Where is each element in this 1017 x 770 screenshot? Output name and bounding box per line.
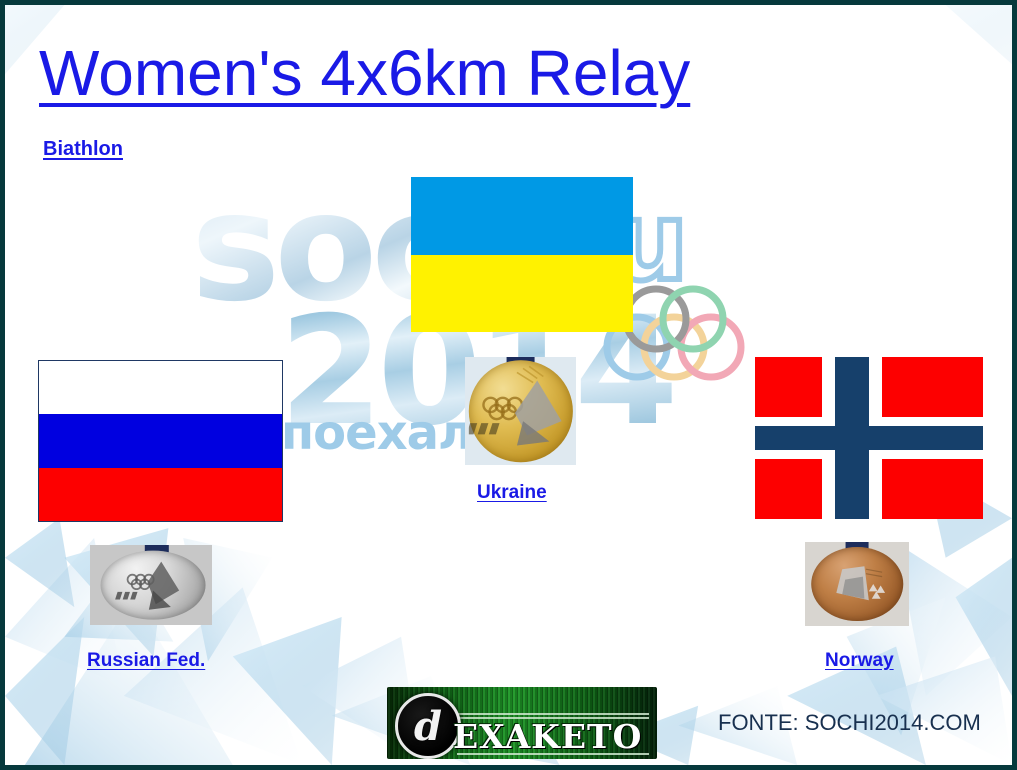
source-credit: FONTE: SOCHI2014.COM	[718, 710, 981, 736]
gold-medal-photo	[465, 357, 576, 465]
logo-rule	[457, 713, 649, 715]
logo-d-mark: d	[395, 693, 461, 759]
medal-disc	[468, 360, 572, 462]
presentation-slide: sochi .ru 2014 поехали! Women's 4x6km Re…	[0, 0, 1017, 770]
russia-flag	[38, 360, 283, 522]
logo-d-letter: d	[398, 696, 458, 756]
country-label-ukraine: Ukraine	[477, 482, 547, 504]
gold-medal	[465, 357, 576, 465]
flag-band-blue	[39, 414, 282, 467]
sport-subtitle: Biathlon	[43, 138, 123, 161]
flag-band-red	[39, 468, 282, 521]
dexaketo-logo: d EXAKETO	[387, 687, 657, 759]
bronze-medal-photo	[805, 542, 909, 626]
flag-band-yellow	[411, 255, 633, 333]
silver-medal-photo	[90, 545, 212, 625]
norway-flag	[755, 357, 983, 519]
bronze-medal	[805, 542, 909, 626]
medal-disc	[811, 547, 903, 621]
silver-medal	[90, 545, 212, 625]
country-label-russian-fed: Russian Fed.	[87, 650, 205, 672]
page-title: Women's 4x6km Relay	[39, 41, 690, 105]
country-label-norway: Norway	[825, 650, 894, 672]
ukraine-flag	[411, 177, 633, 332]
flag-cross-blue-horizontal	[755, 426, 983, 450]
logo-wordmark: EXAKETO	[453, 717, 642, 756]
medal-disc	[101, 551, 206, 620]
flag-band-white	[39, 361, 282, 414]
flag-band-blue	[411, 177, 633, 255]
